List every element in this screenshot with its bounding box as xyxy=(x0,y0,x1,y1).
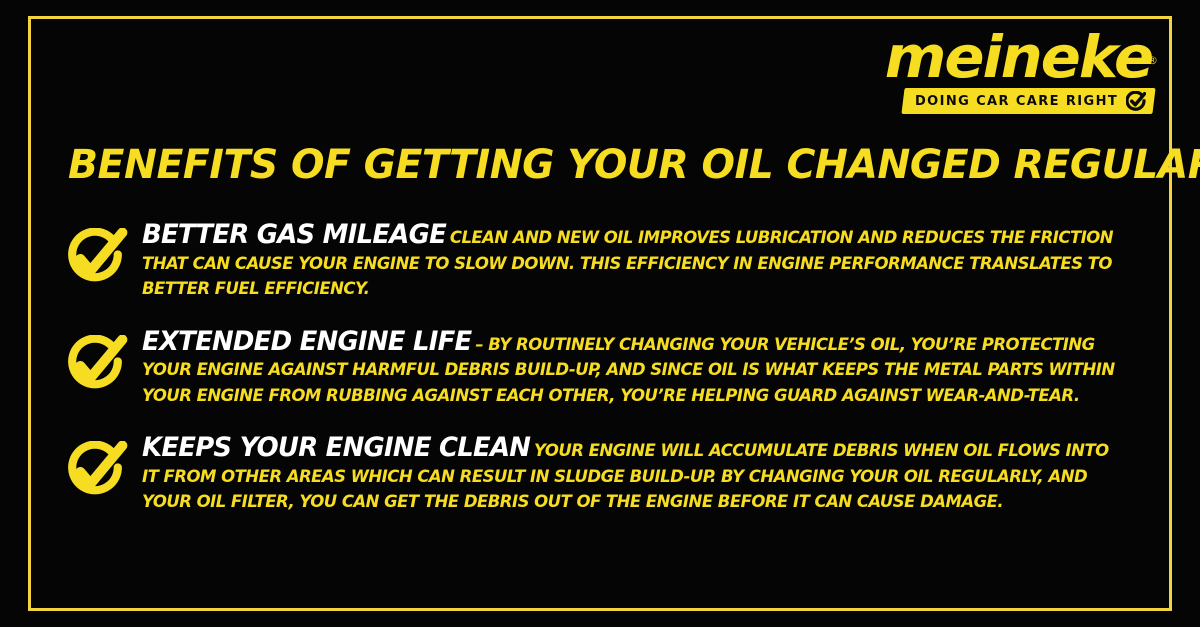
check-circle-icon xyxy=(62,335,128,397)
registered-trademark-mark: ® xyxy=(1147,54,1158,67)
meineke-oil-change-benefits-poster: meineke ® DOING CAR CARE RIGHT BENEFITS … xyxy=(0,0,1200,627)
benefit-item-extended-engine-life: EXTENDED ENGINE LIFE– BY ROUTINELY CHANG… xyxy=(62,329,1164,410)
meineke-logo: meineke ® DOING CAR CARE RIGHT xyxy=(918,28,1158,116)
benefit-text-block: EXTENDED ENGINE LIFE– BY ROUTINELY CHANG… xyxy=(142,329,1123,410)
logo-tagline-bar: DOING CAR CARE RIGHT xyxy=(901,88,1155,114)
check-circle-icon xyxy=(62,228,128,290)
logo-wordmark: meineke xyxy=(885,28,1152,86)
check-circle-icon xyxy=(62,441,128,503)
benefit-text-block: BETTER GAS MILEAGECLEAN AND NEW OIL IMPR… xyxy=(142,222,1123,303)
benefit-item-better-gas-mileage: BETTER GAS MILEAGECLEAN AND NEW OIL IMPR… xyxy=(62,222,1164,303)
benefit-title: EXTENDED ENGINE LIFE xyxy=(142,326,475,357)
check-circle-icon xyxy=(1126,91,1146,111)
benefit-separator: – xyxy=(475,335,488,355)
benefit-title: KEEPS YOUR ENGINE CLEAN xyxy=(142,432,534,463)
benefits-list: BETTER GAS MILEAGECLEAN AND NEW OIL IMPR… xyxy=(62,222,1164,516)
benefit-item-keeps-your-engine-clean: KEEPS YOUR ENGINE CLEANYOUR ENGINE WILL … xyxy=(62,435,1164,516)
logo-tagline-text: DOING CAR CARE RIGHT xyxy=(915,94,1118,109)
page-title: BENEFITS OF GETTING YOUR OIL CHANGED REG… xyxy=(68,143,1200,187)
benefit-title: BETTER GAS MILEAGE xyxy=(142,219,450,250)
benefit-text-block: KEEPS YOUR ENGINE CLEANYOUR ENGINE WILL … xyxy=(142,435,1123,516)
